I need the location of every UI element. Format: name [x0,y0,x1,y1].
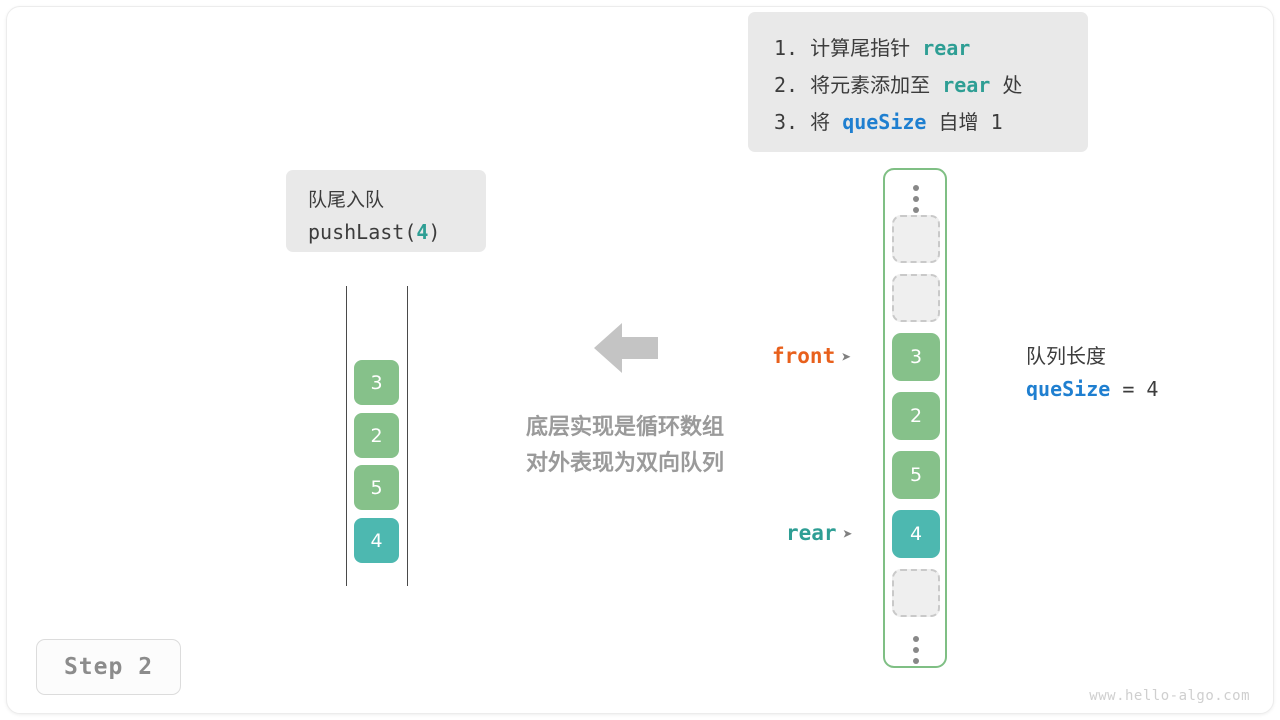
operation-note-box: 队尾入队 pushLast(4) [286,170,486,252]
step-2-number: 2. [774,73,798,97]
step-3-keyword: queSize [842,110,926,134]
step-3-pre: 将 [798,110,842,134]
figure-canvas: 1. 计算尾指针 rear 2. 将元素添加至 rear 处 3. 将 queS… [0,0,1280,720]
center-caption-line-1: 底层实现是循环数组 [455,410,795,446]
queue-size-expression: queSize = 4 [1026,372,1246,406]
front-pointer-label: front➤ [772,344,851,368]
front-pointer-text: front [772,344,835,368]
center-caption: 底层实现是循环数组 对外表现为双向队列 [455,410,795,482]
array-slot-4: 5 [892,451,940,499]
stack-rail-right [407,286,408,586]
stack-rail-left [346,286,347,586]
operation-call: pushLast(4) [308,216,486,248]
array-slot-0 [892,215,940,263]
queue-size-var-name: queSize [1026,377,1110,401]
stack-cell-0: 3 [354,360,399,405]
step-2-pre: 将元素添加至 [798,73,942,97]
operation-call-suffix: ) [428,220,440,244]
step-1-pre: 计算尾指针 [798,36,922,60]
rear-pointer-arrow-icon: ➤ [843,525,853,545]
step-line-2: 2. 将元素添加至 rear 处 [774,67,1062,104]
queue-size-equals: = [1110,377,1146,401]
step-3-number: 3. [774,110,798,134]
step-1-keyword: rear [922,36,970,60]
circular-array-frame: 3 2 5 4 [883,168,947,668]
operation-call-prefix: pushLast( [308,220,416,244]
steps-note-box: 1. 计算尾指针 rear 2. 将元素添加至 rear 处 3. 将 queS… [748,12,1088,152]
logical-deque-stack: 3 2 5 4 [345,286,411,586]
center-caption-line-2: 对外表现为双向队列 [455,446,795,482]
stack-cell-2: 5 [354,465,399,510]
queue-size-label: 队列长度 [1026,340,1246,372]
left-arrow-icon [594,320,658,376]
watermark: www.hello-algo.com [1089,688,1250,704]
rear-pointer-text: rear [786,521,837,545]
array-slot-6 [892,569,940,617]
queue-size-info: 队列长度 queSize = 4 [1026,340,1246,406]
step-2-keyword: rear [942,73,990,97]
rear-pointer-label: rear➤ [786,521,853,545]
step-badge: Step 2 [36,639,181,695]
step-line-3: 3. 将 queSize 自增 1 [774,104,1062,141]
front-pointer-arrow-icon: ➤ [841,348,851,368]
stack-cell-3: 4 [354,518,399,563]
step-3-post: 自增 1 [926,110,1002,134]
array-slot-2: 3 [892,333,940,381]
step-line-1: 1. 计算尾指针 rear [774,30,1062,67]
array-top-ellipsis-icon [911,185,921,213]
step-2-post: 处 [990,73,1022,97]
queue-size-value: 4 [1146,377,1158,401]
array-slot-3: 2 [892,392,940,440]
operation-call-value: 4 [416,220,428,244]
step-1-number: 1. [774,36,798,60]
array-bottom-ellipsis-icon [911,636,921,664]
array-slot-5: 4 [892,510,940,558]
operation-title: 队尾入队 [308,184,486,216]
array-slot-1 [892,274,940,322]
stack-cell-1: 2 [354,413,399,458]
